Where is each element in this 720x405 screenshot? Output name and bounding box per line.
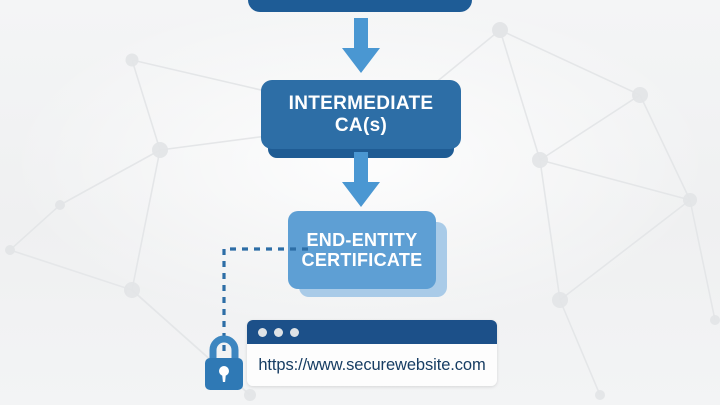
arrow-root-to-intermediate bbox=[340, 18, 382, 76]
root-ca-box[interactable]: ROOT CA bbox=[248, 0, 472, 12]
intermediate-ca-box[interactable]: INTERMEDIATE CA(s) bbox=[261, 80, 461, 149]
browser-dot-3-icon[interactable] bbox=[290, 328, 299, 337]
lock-icon bbox=[200, 334, 248, 392]
end-entity-certificate-box[interactable]: END-ENTITY CERTIFICATE bbox=[288, 211, 436, 289]
browser-window[interactable]: https://www.securewebsite.com bbox=[247, 320, 497, 386]
browser-titlebar bbox=[247, 320, 497, 344]
certificate-chain-diagram: ROOT CA INTERMEDIATE CA(s) END-ENTITY CE… bbox=[0, 0, 720, 405]
intermediate-ca-label: INTERMEDIATE CA(s) bbox=[261, 93, 461, 136]
end-entity-label-line1: END-ENTITY bbox=[307, 230, 418, 250]
browser-url-bar[interactable]: https://www.securewebsite.com bbox=[247, 344, 497, 386]
browser-dot-1-icon[interactable] bbox=[258, 328, 267, 337]
arrow-intermediate-to-end-entity bbox=[340, 152, 382, 210]
end-entity-label-line2: CERTIFICATE bbox=[302, 250, 423, 270]
browser-dot-2-icon[interactable] bbox=[274, 328, 283, 337]
browser-url-text: https://www.securewebsite.com bbox=[258, 356, 485, 375]
